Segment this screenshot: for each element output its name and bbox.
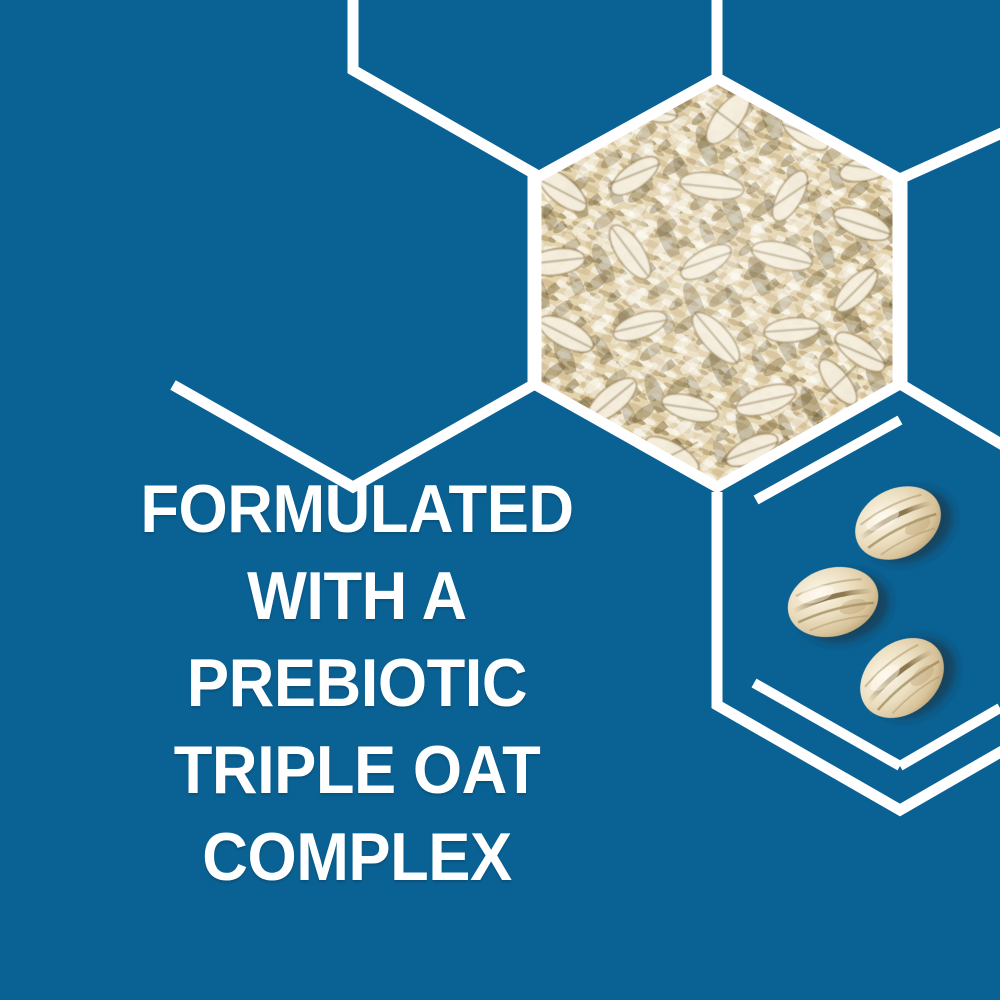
headline-line-3: PREBIOTIC	[83, 640, 632, 727]
headline-line-4: TRIPLE OAT	[83, 727, 632, 814]
headline-text-block: FORMULATED WITH A PREBIOTIC TRIPLE OAT C…	[62, 466, 652, 901]
headline-line-2: WITH A	[83, 553, 632, 640]
promo-banner: FORMULATED WITH A PREBIOTIC TRIPLE OAT C…	[0, 0, 1000, 1000]
headline-line-1: FORMULATED	[83, 466, 632, 553]
headline-line-5: COMPLEX	[83, 814, 632, 901]
